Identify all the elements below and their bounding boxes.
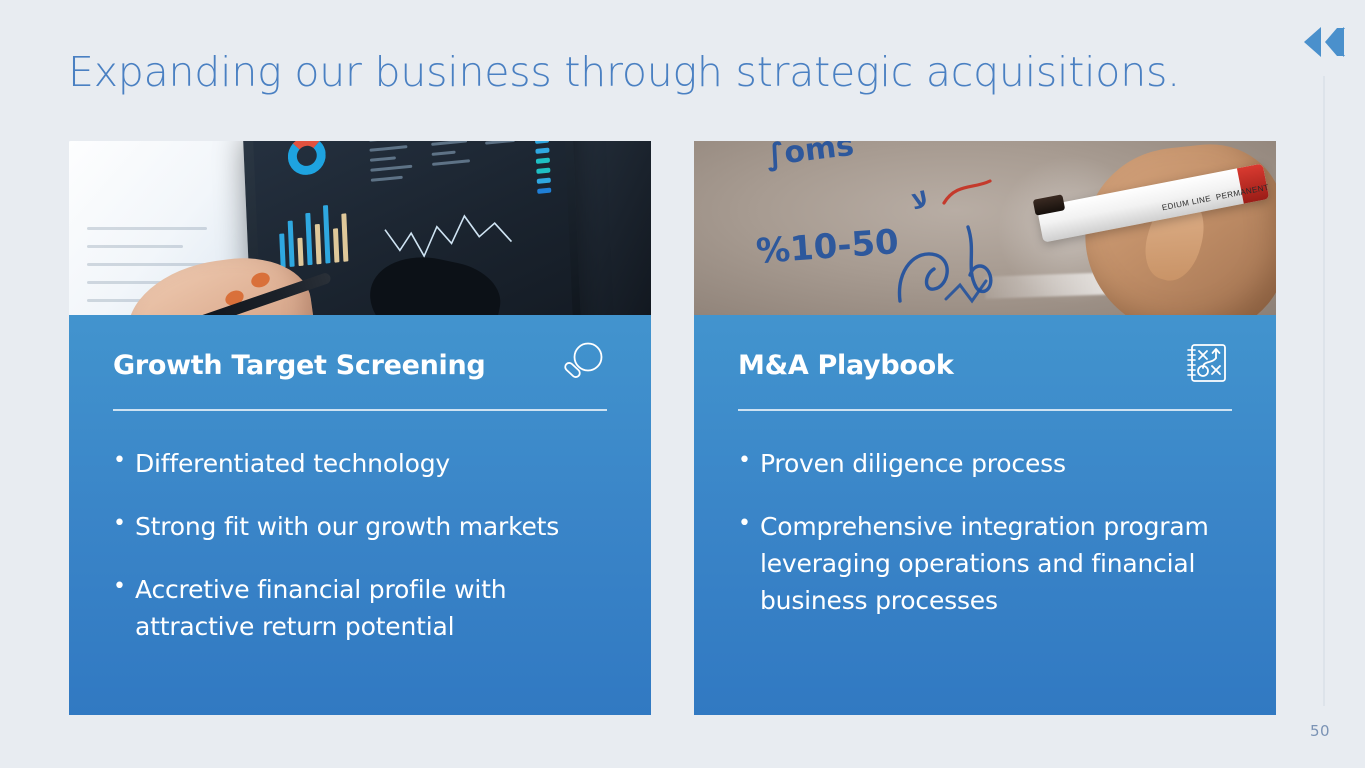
list-item-label: Differentiated technology	[135, 445, 607, 482]
list-item: • Differentiated technology	[113, 445, 607, 482]
bullet-marker: •	[738, 445, 760, 482]
card-bullet-list: • Proven diligence process • Comprehensi…	[738, 445, 1232, 619]
list-item: • Comprehensive integration program leve…	[738, 508, 1232, 619]
list-item-label: Proven diligence process	[760, 445, 1232, 482]
card-title: Growth Target Screening	[113, 350, 485, 381]
playbook-notebook-icon	[1182, 338, 1232, 393]
card-body-growth-target-screening: Growth Target Screening • Differentiated…	[69, 315, 651, 645]
list-item-label: Strong fit with our growth markets	[135, 508, 607, 545]
list-item-label: Comprehensive integration program levera…	[760, 508, 1232, 619]
list-item: • Accretive financial profile with attra…	[113, 571, 607, 645]
bullet-marker: •	[113, 508, 135, 545]
page-number: 50	[1310, 722, 1330, 740]
card-header: Growth Target Screening	[113, 315, 607, 415]
card-divider	[113, 409, 607, 411]
list-item: • Proven diligence process	[738, 445, 1232, 482]
slide-root: Expanding our business through strategic…	[0, 0, 1365, 768]
card-bullet-list: • Differentiated technology • Strong fit…	[113, 445, 607, 645]
bullet-marker: •	[738, 508, 760, 619]
brand-logo-icon[interactable]	[1300, 25, 1348, 59]
right-vertical-rule	[1323, 76, 1325, 706]
card-divider	[738, 409, 1232, 411]
card-body-ma-playbook: M&A Playbook	[694, 315, 1276, 619]
bullet-marker: •	[113, 445, 135, 482]
bullet-marker: •	[113, 571, 135, 645]
list-item: • Strong fit with our growth markets	[113, 508, 607, 545]
card-growth-target-screening[interactable]: Growth Target Screening • Differentiated…	[69, 141, 651, 715]
page-title: Expanding our business through strategic…	[68, 48, 1180, 96]
card-photo-tablet-dashboard	[69, 141, 651, 315]
list-item-label: Accretive financial profile with attract…	[135, 571, 607, 645]
card-header: M&A Playbook	[738, 315, 1232, 415]
card-ma-playbook[interactable]: ∫oms %10-50 لا EDIUM LINE	[694, 141, 1276, 715]
card-photo-whiteboard-marker: ∫oms %10-50 لا EDIUM LINE	[694, 141, 1276, 315]
magnifier-icon	[557, 338, 607, 393]
card-title: M&A Playbook	[738, 350, 954, 381]
